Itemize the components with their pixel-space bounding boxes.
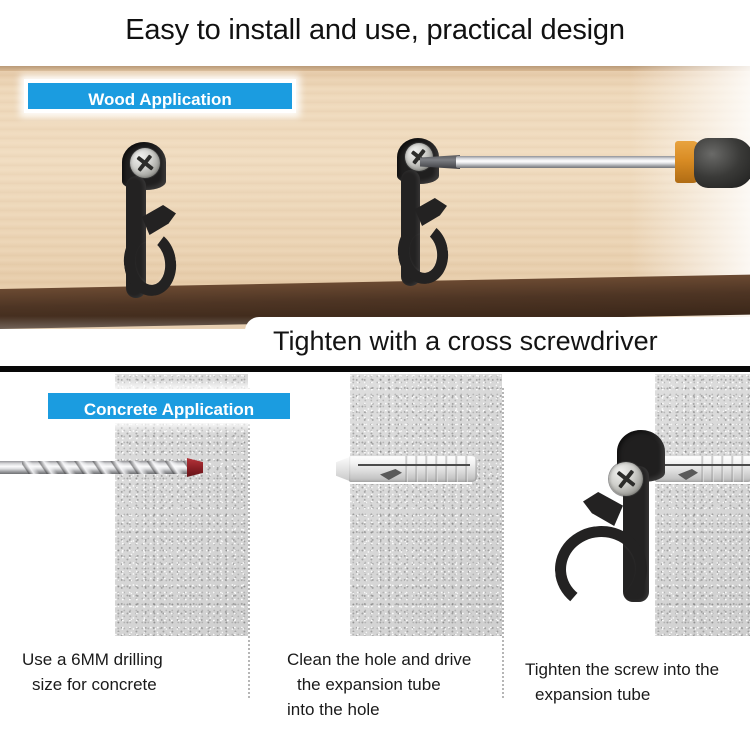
hook-step3-screw [609, 462, 643, 496]
caption-step-1: Use a 6MM drilling size for concrete [22, 647, 232, 697]
hook-with-screw-icon [555, 430, 685, 630]
cross-screwdriver [420, 140, 750, 200]
concrete-slab-2 [350, 374, 502, 636]
concrete-application-panel: Concrete Application Use a 6MM drilling … [0, 372, 750, 750]
screwdriver-tip-icon [420, 155, 460, 169]
expansion-tube-ribs [398, 456, 477, 482]
caption-step-3-line-1: Tighten the screw into the [525, 657, 750, 682]
drill-bit-icon [0, 454, 214, 480]
expansion-tube-icon [336, 452, 486, 488]
wood-caption-tighten: Tighten with a cross screwdriver [245, 317, 750, 366]
panel-divider-1 [248, 388, 250, 698]
hook-left [118, 142, 188, 312]
page-title: Easy to install and use, practical desig… [0, 14, 750, 47]
expansion-tube-ribs-3 [694, 456, 750, 482]
expansion-tube-slot [358, 464, 470, 466]
caption-step-2-line-2: the expansion tube [287, 672, 507, 697]
screwdriver-shaft [456, 156, 678, 168]
caption-step-1-line-2: size for concrete [22, 672, 232, 697]
drill-bit-carbide-tip [187, 458, 203, 477]
caption-step-1-line-1: Use a 6MM drilling [22, 647, 232, 672]
screwdriver-handle [694, 138, 750, 188]
drill-bit-flutes [22, 461, 190, 474]
caption-step-2-line-3: into the hole [287, 697, 507, 722]
caption-step-2: Clean the hole and drive the expansion t… [287, 647, 507, 722]
product-infographic: Easy to install and use, practical desig… [0, 0, 750, 750]
badge-wood-application: Wood Application [24, 79, 296, 113]
caption-step-3: Tighten the screw into the expansion tub… [525, 657, 750, 707]
hook-step3-barb [583, 492, 623, 526]
caption-step-2-line-1: Clean the hole and drive [287, 647, 507, 672]
badge-concrete-application: Concrete Application [44, 389, 294, 423]
hook-left-screw [130, 148, 160, 178]
caption-step-3-line-2: expansion tube [525, 682, 750, 707]
